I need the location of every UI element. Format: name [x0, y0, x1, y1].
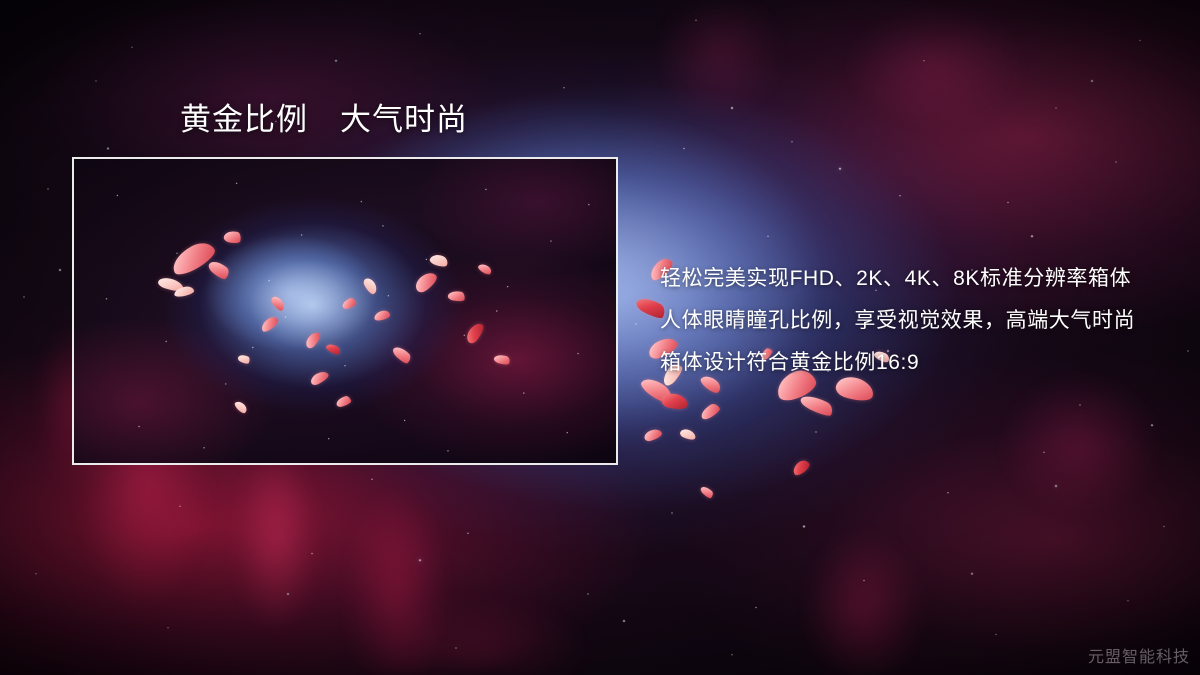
body-line-2: 人体眼睛瞳孔比例，享受视觉效果，高端大气时尚 [660, 300, 1180, 342]
preview-image-frame [72, 157, 618, 465]
petal [679, 427, 697, 442]
watermark: 元盟智能科技 [1088, 648, 1190, 668]
petal [699, 484, 715, 499]
petal [661, 391, 690, 412]
petal [790, 458, 811, 477]
page-title: 黄金比例 大气时尚 [180, 101, 468, 139]
preview-starfield [74, 159, 616, 463]
body-text-block: 轻松完美实现FHD、2K、4K、8K标准分辨率箱体 人体眼睛瞳孔比例，享受视觉效… [660, 258, 1180, 384]
body-line-3: 箱体设计符合黄金比例16:9 [660, 342, 1180, 384]
body-line-1: 轻松完美实现FHD、2K、4K、8K标准分辨率箱体 [660, 258, 1180, 300]
presentation-slide: 黄金比例 大气时尚 轻松完美实现FHD、2K、4K、8K标准分辨率箱体 人体眼睛… [0, 0, 1200, 675]
petal [699, 402, 722, 422]
petal [643, 428, 663, 443]
